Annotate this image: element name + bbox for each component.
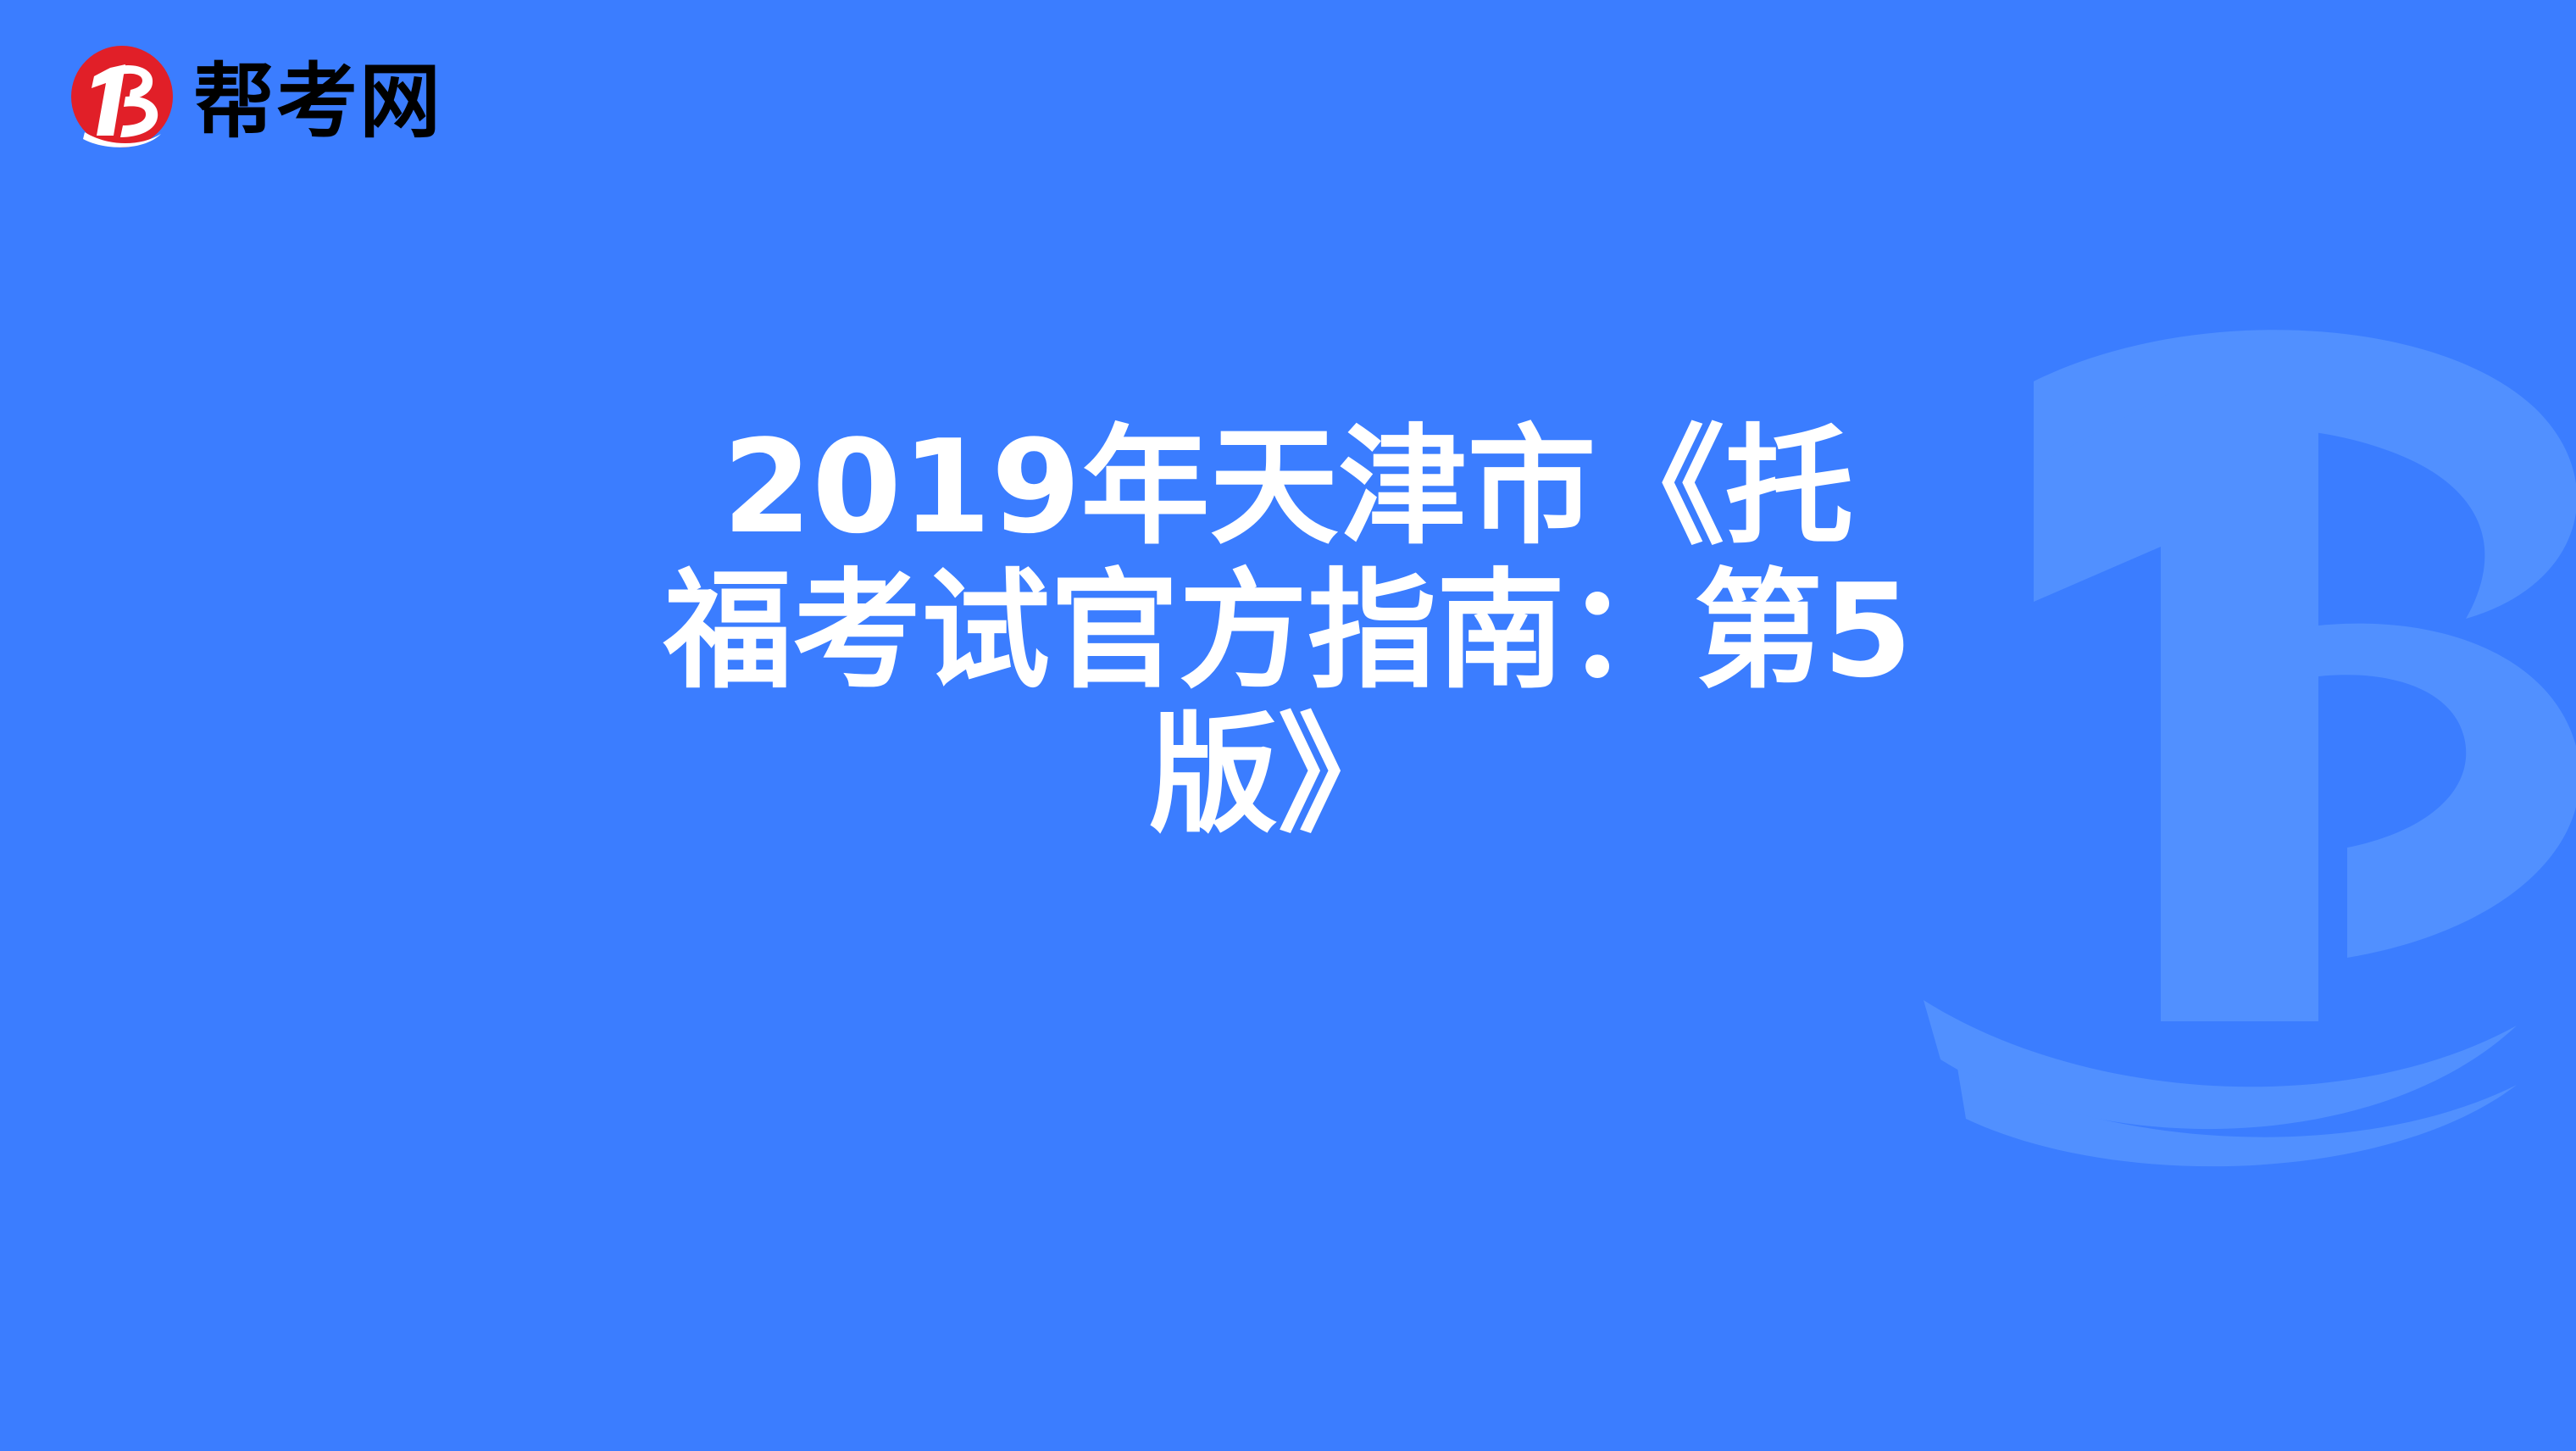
poster-canvas: 帮考网 2019年天津市《托 福考试官方指南：第5 版》	[0, 0, 2576, 1451]
site-logo-wordmark: 帮考网	[193, 61, 442, 142]
site-logo[interactable]: 帮考网	[66, 44, 442, 156]
page-title-line-3: 版》	[354, 703, 2201, 848]
page-title-line-2: 福考试官方指南：第5	[364, 559, 2212, 703]
page-title-line-1: 2019年天津市《托	[364, 415, 2212, 559]
page-title: 2019年天津市《托 福考试官方指南：第5 版》	[0, 415, 2576, 848]
bangkao-b-logo-icon	[66, 44, 178, 156]
